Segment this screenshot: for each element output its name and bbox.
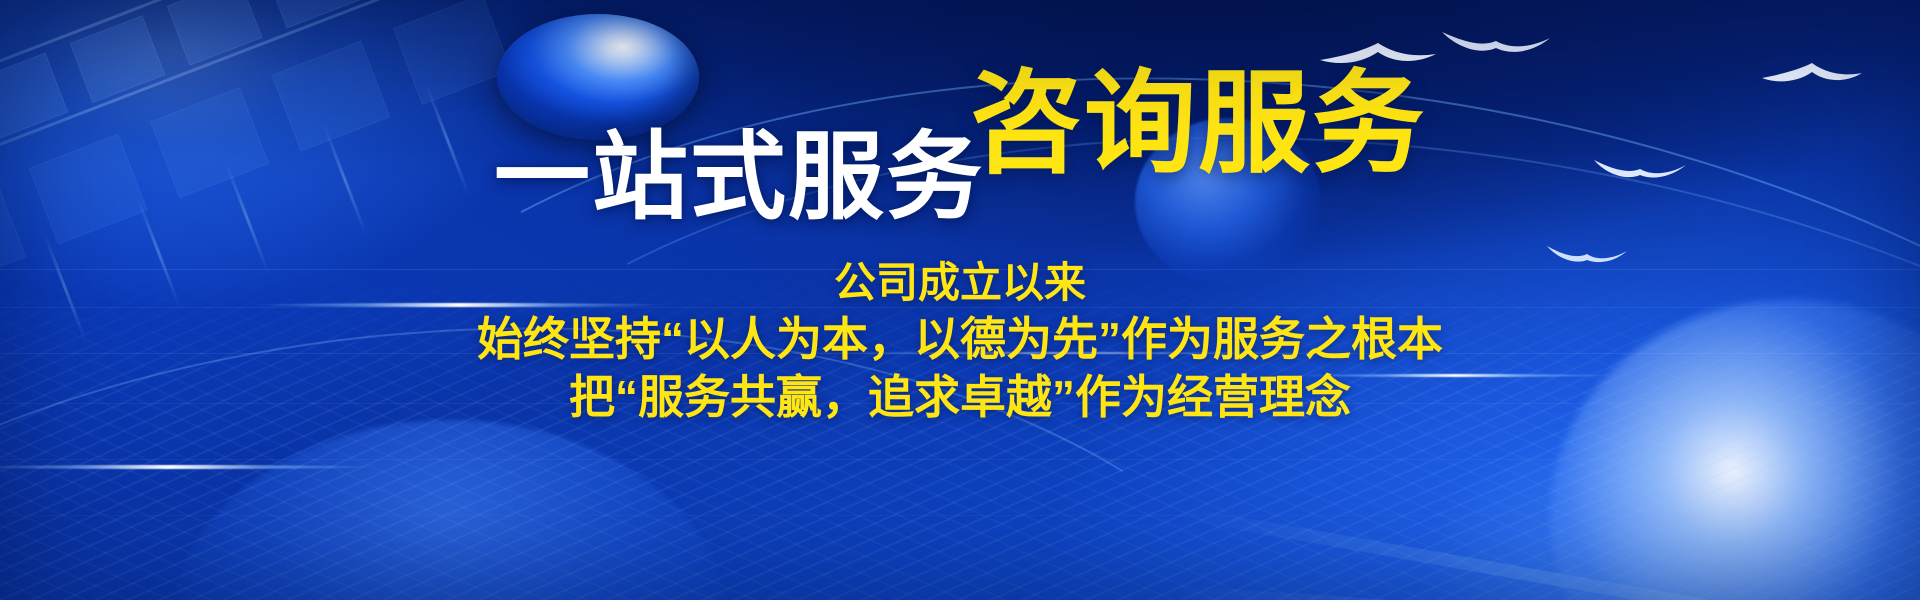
seagull-icon [1318,38,1438,72]
seagull-icon [1545,240,1629,264]
glossy-sphere-icon [1135,118,1321,286]
seagull-icon [1592,152,1688,180]
lens-flare-streak-icon [250,303,670,307]
lens-flare-streak-icon [1290,374,1620,377]
horizontal-guide-lines [0,240,1920,600]
glossy-sphere-icon [497,14,699,140]
lens-flare-streak-icon [760,352,1360,354]
seagull-icon [1760,60,1864,90]
seagull-icon [1440,22,1552,54]
promo-banner: 一站式服务 咨询服务 公司成立以来 始终坚持“以人为本，以德为先”作为服务之根本… [0,0,1920,600]
